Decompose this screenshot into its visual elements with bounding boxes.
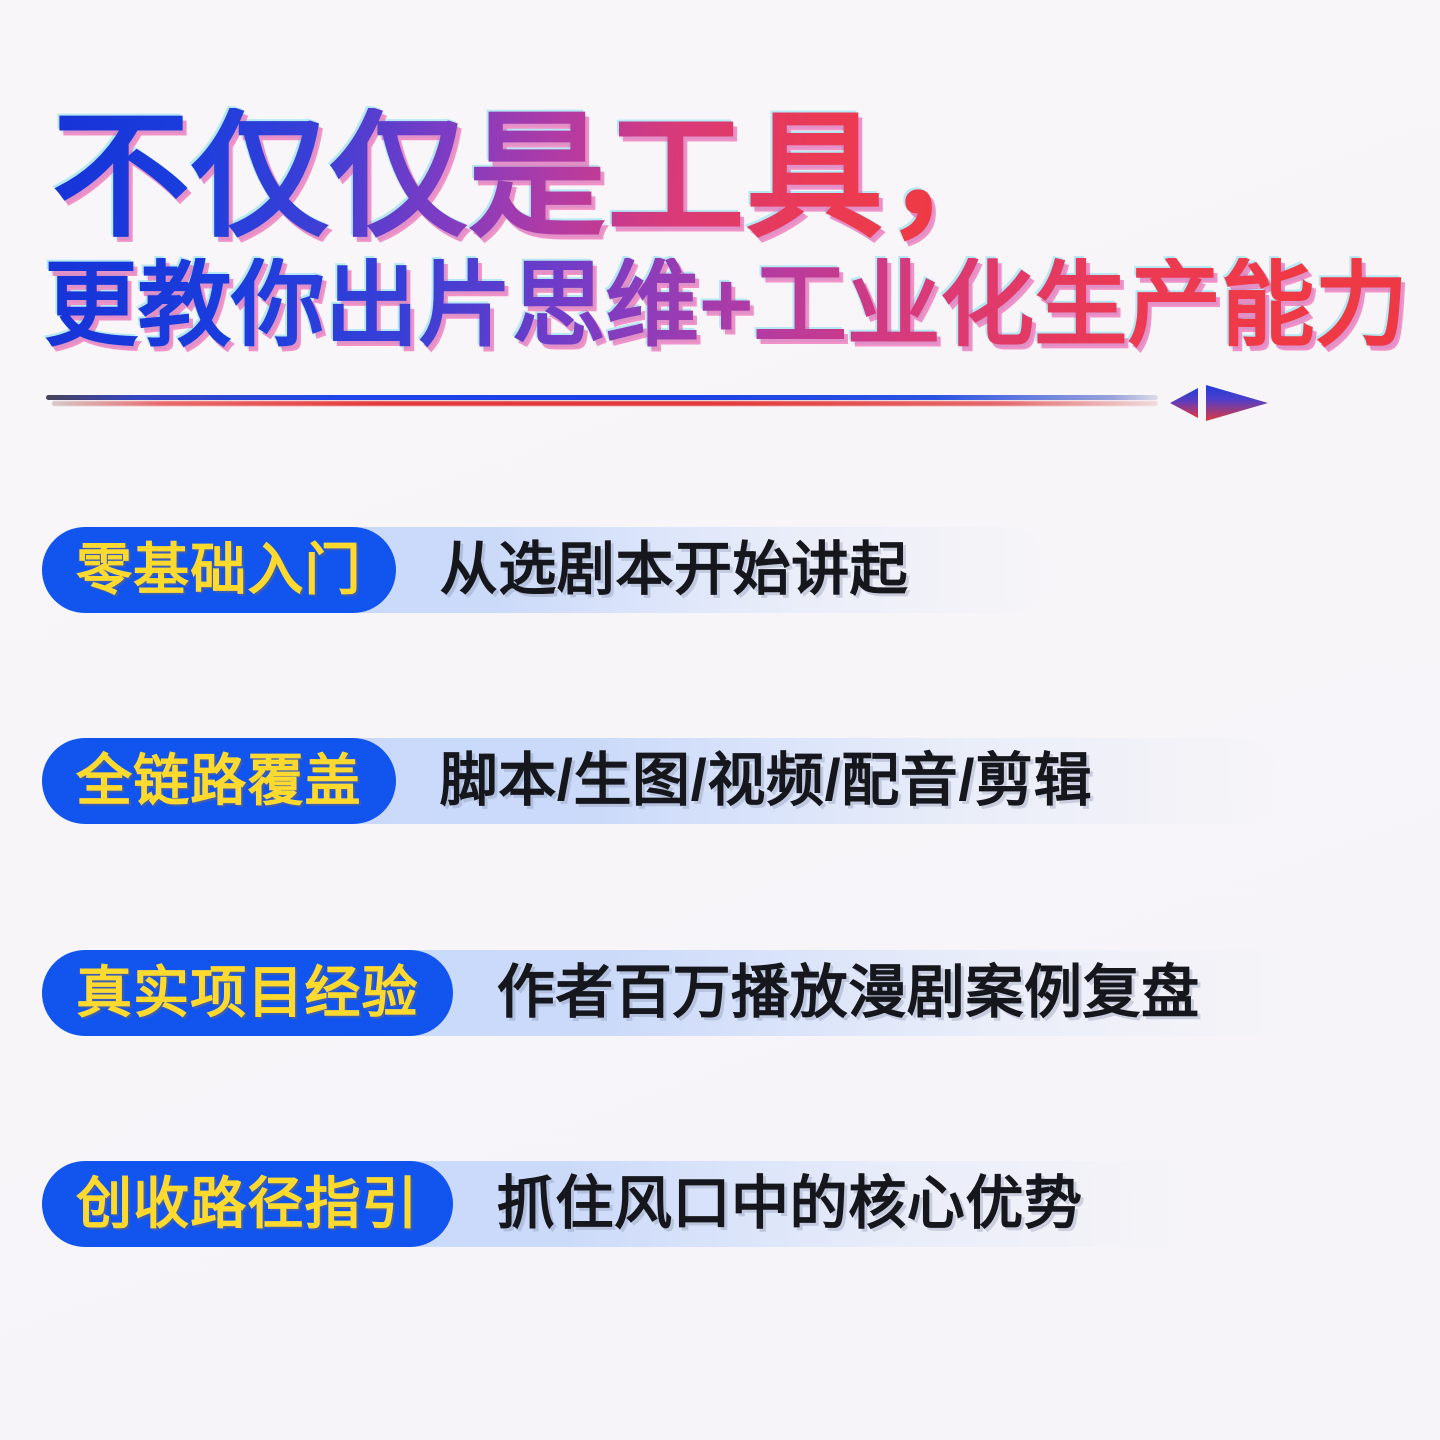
poster-canvas: 不仅仅是工具， 更教你出片思维+工业化生产能力 零基础入门 从选剧本开始讲起 全… <box>0 0 1440 1440</box>
triangle-left-icon <box>1170 388 1198 418</box>
feature-badge[interactable]: 全链路覆盖 <box>42 738 396 824</box>
feature-badge-label: 真实项目经验 <box>76 965 419 1021</box>
triangle-right-icon <box>1206 385 1268 421</box>
feature-badge-label: 创收路径指引 <box>76 1176 419 1232</box>
headline-primary: 不仅仅是工具， <box>52 108 1023 246</box>
feature-description: 从选剧本开始讲起 <box>440 541 909 599</box>
headline-secondary: 更教你出片思维+工业化生产能力 <box>44 258 1408 352</box>
feature-badge-label: 零基础入门 <box>76 542 362 598</box>
feature-row: 零基础入门 从选剧本开始讲起 <box>42 527 908 613</box>
divider <box>46 380 1246 424</box>
feature-badge[interactable]: 零基础入门 <box>42 527 396 613</box>
feature-description: 作者百万播放漫剧案例复盘 <box>497 964 1200 1022</box>
divider-line-red <box>52 401 1158 406</box>
feature-badge[interactable]: 创收路径指引 <box>42 1161 453 1247</box>
feature-row: 创收路径指引 抓住风口中的核心优势 <box>42 1161 1083 1247</box>
feature-row: 真实项目经验 作者百万播放漫剧案例复盘 <box>42 950 1200 1036</box>
divider-line-blue <box>46 395 1158 400</box>
feature-description: 脚本/生图/视频/配音/剪辑 <box>440 752 1093 810</box>
feature-description: 抓住风口中的核心优势 <box>497 1175 1083 1233</box>
feature-row: 全链路覆盖 脚本/生图/视频/配音/剪辑 <box>42 738 1092 824</box>
feature-badge[interactable]: 真实项目经验 <box>42 950 453 1036</box>
feature-badge-label: 全链路覆盖 <box>76 753 362 809</box>
